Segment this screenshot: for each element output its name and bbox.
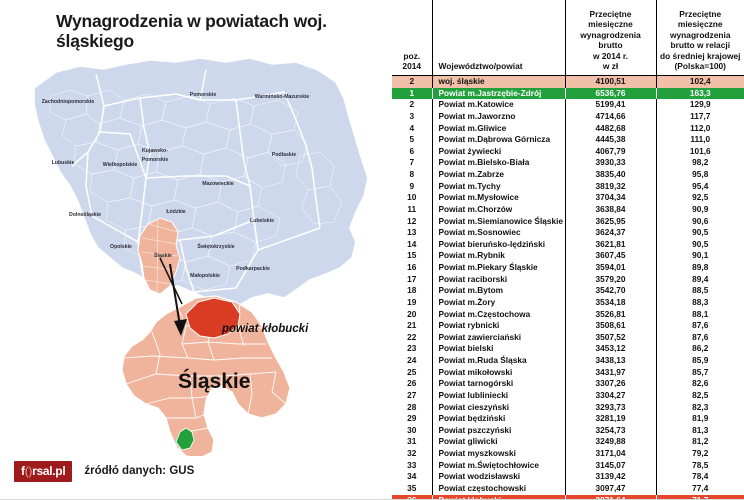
cell-rank: 6 (392, 146, 432, 158)
cell-salary: 3625,95 (565, 216, 656, 228)
table-row: 8Powiat m.Zabrze3835,4095,8 (392, 169, 744, 181)
voivodeship-label: Lubelskie (250, 218, 274, 224)
cell-rank: 19 (392, 297, 432, 309)
table-row: 19Powiat m.Żory3534,1888,3 (392, 297, 744, 309)
voivodeship-label: Śląskie (154, 252, 172, 259)
table-row: 9Powiat m.Tychy3819,3295,4 (392, 181, 744, 193)
table-row: 17Powiat raciborski3579,2089,4 (392, 274, 744, 286)
cell-salary: 3254,73 (565, 425, 656, 437)
table-row: 28Powiat cieszyński3293,7382,3 (392, 402, 744, 414)
cell-region: Powiat kłobucki (432, 495, 565, 500)
source-note: źródłó danych: GUS (84, 465, 194, 477)
cell-relative: 111,0 (656, 134, 744, 146)
cell-relative: 88,1 (656, 309, 744, 321)
table-row: 33Powiat m.Świętochłowice3145,0778,5 (392, 460, 744, 472)
col-header-relative-l5: do średniej krajowej (660, 51, 741, 61)
col-header-salary-l4: brutto (598, 40, 622, 50)
cell-salary: 4445,38 (565, 134, 656, 146)
cell-relative: 90,1 (656, 250, 744, 262)
table-row: 3Powiat m.Jaworzno4714,66117,7 (392, 111, 744, 123)
col-header-relative-l2: miesięczne (678, 19, 723, 29)
cell-region: Powiat m.Ruda Śląska (432, 355, 565, 367)
cell-rank: 27 (392, 390, 432, 402)
voivodeship-label: Pomorskie (190, 92, 217, 98)
table-row: 27Powiat lubliniecki3304,2782,5 (392, 390, 744, 402)
cell-rank: 36 (392, 495, 432, 500)
table-row: 14Powiat bieruńsko-lędziński3621,8190,5 (392, 239, 744, 251)
cell-region: Powiat m.Tychy (432, 181, 565, 193)
cell-rank: 21 (392, 320, 432, 332)
col-header-region: Województwo/powiat (432, 0, 565, 76)
cell-region: Powiat m.Chorzów (432, 204, 565, 216)
cell-region: Powiat wodzisławski (432, 471, 565, 483)
table-row: 10Powiat m.Mysłowice3704,3492,5 (392, 192, 744, 204)
cell-salary: 3621,81 (565, 239, 656, 251)
cell-salary: 3249,88 (565, 436, 656, 448)
table-row: 22Powiat zawierciański3507,5287,6 (392, 332, 744, 344)
table-row: 18Powiat m.Bytom3542,7088,5 (392, 285, 744, 297)
cell-salary: 3607,45 (565, 250, 656, 262)
cell-rank: 23 (392, 343, 432, 355)
cell-relative: 90,6 (656, 216, 744, 228)
footer: f()rsal.pl źródłó danych: GUS (14, 458, 194, 484)
cell-salary: 3171,04 (565, 448, 656, 460)
cell-relative: 102,4 (656, 76, 744, 88)
voivodeship-label: Świętokrzyskie (197, 243, 234, 250)
cell-rank: 35 (392, 483, 432, 495)
forsal-logo[interactable]: f()rsal.pl (14, 461, 72, 482)
cell-relative: 89,4 (656, 274, 744, 286)
cell-region: Powiat m.Mysłowice (432, 192, 565, 204)
salary-table-panel: poz. 2014 Województwo/powiat Przeciętne … (392, 0, 744, 500)
cell-rank: 3 (392, 111, 432, 123)
table-row: 20Powiat m.Częstochowa3526,8188,1 (392, 309, 744, 321)
cell-region: woj. śląskie (432, 76, 565, 88)
cell-region: Powiat raciborski (432, 274, 565, 286)
cell-region: Powiat m.Dąbrowa Górnicza (432, 134, 565, 146)
voivodeship-label: Małopolskie (190, 273, 220, 279)
col-header-rank-line2: 2014 (402, 61, 421, 71)
cell-region: Powiat m.Piekary Śląskie (432, 262, 565, 274)
table-row: 36Powiat kłobucki2871,6471,7 (392, 495, 744, 500)
cell-relative: 98,2 (656, 157, 744, 169)
table-row: 32Powiat myszkowski3171,0479,2 (392, 448, 744, 460)
cell-rank: 2 (392, 76, 432, 88)
cell-rank: 17 (392, 274, 432, 286)
voivodeship-label: Dolnośląskie (69, 212, 101, 218)
slaskie-region-label: Śląskie (178, 369, 250, 393)
table-body: 2woj. śląskie4100,51102,41Powiat m.Jastr… (392, 76, 744, 500)
cell-region: Powiat zawierciański (432, 332, 565, 344)
table-row: 2woj. śląskie4100,51102,4 (392, 76, 744, 88)
cell-region: Powiat bieruńsko-lędziński (432, 239, 565, 251)
cell-salary: 3819,32 (565, 181, 656, 193)
cell-salary: 5199,41 (565, 99, 656, 111)
cell-rank: 7 (392, 157, 432, 169)
table-head: poz. 2014 Województwo/powiat Przeciętne … (392, 0, 744, 76)
cell-region: Powiat m.Jaworzno (432, 111, 565, 123)
cell-relative: 88,5 (656, 285, 744, 297)
cell-rank: 14 (392, 239, 432, 251)
table-row: 34Powiat wodzisławski3139,4278,4 (392, 471, 744, 483)
cell-salary: 3579,20 (565, 274, 656, 286)
cell-region: Powiat żywiecki (432, 146, 565, 158)
table-row: 5Powiat m.Dąbrowa Górnicza4445,38111,0 (392, 134, 744, 146)
cell-region: Powiat m.Świętochłowice (432, 460, 565, 472)
cell-region: Powiat m.Katowice (432, 99, 565, 111)
cell-relative: 92,5 (656, 192, 744, 204)
cell-region: Powiat m.Gliwice (432, 123, 565, 135)
cell-rank: 12 (392, 216, 432, 228)
table-row: 11Powiat m.Chorzów3638,8490,9 (392, 204, 744, 216)
cell-rank: 33 (392, 460, 432, 472)
voivodeship-label: Pomorskie (142, 157, 169, 163)
cell-rank: 5 (392, 134, 432, 146)
table-row: 13Powiat m.Sosnowiec3624,3790,5 (392, 227, 744, 239)
cell-relative: 95,4 (656, 181, 744, 193)
table-row: 30Powiat pszczyński3254,7381,3 (392, 425, 744, 437)
cell-relative: 87,6 (656, 332, 744, 344)
cell-relative: 71,7 (656, 495, 744, 500)
voivodeship-label: Zachodniopomorskie (42, 99, 95, 105)
cell-rank: 34 (392, 471, 432, 483)
voivodeship-label: Łódzkie (166, 209, 185, 215)
cell-rank: 10 (392, 192, 432, 204)
cell-relative: 90,9 (656, 204, 744, 216)
cell-salary: 3594,01 (565, 262, 656, 274)
cell-region: Powiat tarnogórski (432, 378, 565, 390)
cell-salary: 3638,84 (565, 204, 656, 216)
cell-region: Powiat gliwicki (432, 436, 565, 448)
cell-rank: 22 (392, 332, 432, 344)
cell-salary: 3704,34 (565, 192, 656, 204)
table-row: 16Powiat m.Piekary Śląskie3594,0189,8 (392, 262, 744, 274)
cell-region: Powiat rybnicki (432, 320, 565, 332)
cell-salary: 3526,81 (565, 309, 656, 321)
cell-relative: 89,8 (656, 262, 744, 274)
table-row: 29Powiat będziński3281,1981,9 (392, 413, 744, 425)
col-header-relative-l6: (Polska=100) (675, 61, 726, 71)
cell-salary: 3293,73 (565, 402, 656, 414)
col-header-relative-l3: wynagrodzenia (670, 30, 731, 40)
cell-rank: 4 (392, 123, 432, 135)
cell-region: Powiat pszczyński (432, 425, 565, 437)
col-header-salary-l6: w zł (603, 61, 618, 71)
cell-relative: 87,6 (656, 320, 744, 332)
cell-relative: 129,9 (656, 99, 744, 111)
col-header-salary: Przeciętne miesięczne wynagrodzenia brut… (565, 0, 656, 76)
cell-region: Powiat myszkowski (432, 448, 565, 460)
table-row: 21Powiat rybnicki3508,6187,6 (392, 320, 744, 332)
col-header-salary-l1: Przeciętne (590, 9, 632, 19)
cell-salary: 3281,19 (565, 413, 656, 425)
voivodeship-label: Podlaskie (272, 152, 296, 158)
cell-salary: 4482,68 (565, 123, 656, 135)
table-row: 2Powiat m.Katowice5199,41129,9 (392, 99, 744, 111)
voivodeship-label: Kujawsko- (142, 148, 168, 154)
voivodeship-label: Podkarpackie (236, 266, 270, 272)
cell-rank: 24 (392, 355, 432, 367)
cell-salary: 3534,18 (565, 297, 656, 309)
cell-rank: 16 (392, 262, 432, 274)
col-header-salary-l5: w 2014 r. (593, 51, 628, 61)
cell-salary: 4714,66 (565, 111, 656, 123)
cell-relative: 81,9 (656, 413, 744, 425)
table-row: 4Powiat m.Gliwice4482,68112,0 (392, 123, 744, 135)
cell-rank: 1 (392, 88, 432, 100)
cell-relative: 163,3 (656, 88, 744, 100)
cell-relative: 82,3 (656, 402, 744, 414)
col-header-rank: poz. 2014 (392, 0, 432, 76)
cell-salary: 3930,33 (565, 157, 656, 169)
cell-rank: 11 (392, 204, 432, 216)
cell-relative: 81,3 (656, 425, 744, 437)
cell-relative: 117,7 (656, 111, 744, 123)
cell-rank: 9 (392, 181, 432, 193)
cell-relative: 85,9 (656, 355, 744, 367)
table-row: 35Powiat częstochowski3097,4777,4 (392, 483, 744, 495)
col-header-relative: Przeciętne miesięczne wynagrodzenia brut… (656, 0, 744, 76)
cell-relative: 85,7 (656, 367, 744, 379)
cell-salary: 3835,40 (565, 169, 656, 181)
cell-relative: 101,6 (656, 146, 744, 158)
col-header-relative-l4: brutto w relacji (670, 40, 730, 50)
voivodeship-label: Opolskie (110, 244, 132, 250)
salary-table: poz. 2014 Województwo/powiat Przeciętne … (392, 0, 744, 500)
cell-rank: 30 (392, 425, 432, 437)
cell-region: Powiat m.Bielsko-Biała (432, 157, 565, 169)
map-panel: Zachodniopomorskie Pomorskie Warmińsko-M… (0, 36, 388, 456)
table-row: 1Powiat m.Jastrzębie-Zdrój6536,76163,3 (392, 88, 744, 100)
table-row: 24Powiat m.Ruda Śląska3438,1385,9 (392, 355, 744, 367)
table-row: 31Powiat gliwicki3249,8881,2 (392, 436, 744, 448)
voivodeship-label: Mazowieckie (202, 181, 234, 187)
cell-rank: 25 (392, 367, 432, 379)
cell-salary: 3145,07 (565, 460, 656, 472)
cell-region: Powiat m.Bytom (432, 285, 565, 297)
table-row: 26Powiat tarnogórski3307,2682,6 (392, 378, 744, 390)
cell-salary: 3624,37 (565, 227, 656, 239)
cell-salary: 3542,70 (565, 285, 656, 297)
klobucki-callout-label: powiat kłobucki (221, 323, 309, 335)
cell-relative: 77,4 (656, 483, 744, 495)
cell-relative: 112,0 (656, 123, 744, 135)
cell-region: Powiat mikołowski (432, 367, 565, 379)
cell-salary: 4067,79 (565, 146, 656, 158)
cell-salary: 3307,26 (565, 378, 656, 390)
cell-relative: 79,2 (656, 448, 744, 460)
cell-rank: 31 (392, 436, 432, 448)
cell-region: Powiat m.Siemianowice Śląskie (432, 216, 565, 228)
cell-relative: 82,5 (656, 390, 744, 402)
cell-rank: 18 (392, 285, 432, 297)
cell-region: Powiat będziński (432, 413, 565, 425)
cell-salary: 3097,47 (565, 483, 656, 495)
cell-salary: 2871,64 (565, 495, 656, 500)
cell-salary: 3507,52 (565, 332, 656, 344)
cell-region: Powiat m.Częstochowa (432, 309, 565, 321)
table-row: 12Powiat m.Siemianowice Śląskie3625,9590… (392, 216, 744, 228)
cell-relative: 90,5 (656, 227, 744, 239)
cell-relative: 88,3 (656, 297, 744, 309)
cell-rank: 28 (392, 402, 432, 414)
cell-relative: 78,5 (656, 460, 744, 472)
cell-region: Powiat cieszyński (432, 402, 565, 414)
cell-salary: 3453,12 (565, 343, 656, 355)
cell-region: Powiat m.Jastrzębie-Zdrój (432, 88, 565, 100)
logo-text-post: rsal.pl (32, 464, 65, 478)
cell-rank: 29 (392, 413, 432, 425)
cell-rank: 20 (392, 309, 432, 321)
cell-salary: 3304,27 (565, 390, 656, 402)
cell-relative: 86,2 (656, 343, 744, 355)
col-header-salary-l3: wynagrodzenia (580, 30, 641, 40)
col-header-rank-line1: poz. (403, 51, 420, 61)
cell-region: Powiat lubliniecki (432, 390, 565, 402)
cell-relative: 78,4 (656, 471, 744, 483)
cell-region: Powiat m.Zabrze (432, 169, 565, 181)
table-row: 7Powiat m.Bielsko-Biała3930,3398,2 (392, 157, 744, 169)
voivodeship-label: Warmińsko-Mazurskie (255, 94, 310, 100)
logo-paren-glyph: () (25, 464, 32, 478)
cell-region: Powiat m.Sosnowiec (432, 227, 565, 239)
cell-rank: 32 (392, 448, 432, 460)
cell-salary: 4100,51 (565, 76, 656, 88)
infographic-canvas: Wynagrodzenia w powiatach woj. śląskiego (0, 0, 744, 500)
cell-rank: 26 (392, 378, 432, 390)
cell-salary: 3139,42 (565, 471, 656, 483)
cell-relative: 81,2 (656, 436, 744, 448)
cell-salary: 3438,13 (565, 355, 656, 367)
voivodeship-label: Wielkopolskie (103, 162, 138, 168)
voivodeship-label: Lubuskie (52, 160, 75, 166)
table-row: 23Powiat bielski3453,1286,2 (392, 343, 744, 355)
cell-region: Powiat m.Rybnik (432, 250, 565, 262)
table-row: 25Powiat mikołowski3431,9785,7 (392, 367, 744, 379)
cell-region: Powiat bielski (432, 343, 565, 355)
cell-relative: 90,5 (656, 239, 744, 251)
cell-rank: 15 (392, 250, 432, 262)
cell-rank: 8 (392, 169, 432, 181)
cell-region: Powiat m.Żory (432, 297, 565, 309)
poland-map-svg: Zachodniopomorskie Pomorskie Warmińsko-M… (0, 36, 388, 456)
cell-relative: 82,6 (656, 378, 744, 390)
cell-region: Powiat częstochowski (432, 483, 565, 495)
cell-relative: 95,8 (656, 169, 744, 181)
cell-salary: 3431,97 (565, 367, 656, 379)
cell-rank: 2 (392, 99, 432, 111)
cell-rank: 13 (392, 227, 432, 239)
table-header-row: poz. 2014 Województwo/powiat Przeciętne … (392, 0, 744, 76)
col-header-relative-l1: Przeciętne (679, 9, 721, 19)
col-header-salary-l2: miesięczne (588, 19, 633, 29)
table-row: 6Powiat żywiecki4067,79101,6 (392, 146, 744, 158)
table-row: 15Powiat m.Rybnik3607,4590,1 (392, 250, 744, 262)
cell-salary: 6536,76 (565, 88, 656, 100)
cell-salary: 3508,61 (565, 320, 656, 332)
